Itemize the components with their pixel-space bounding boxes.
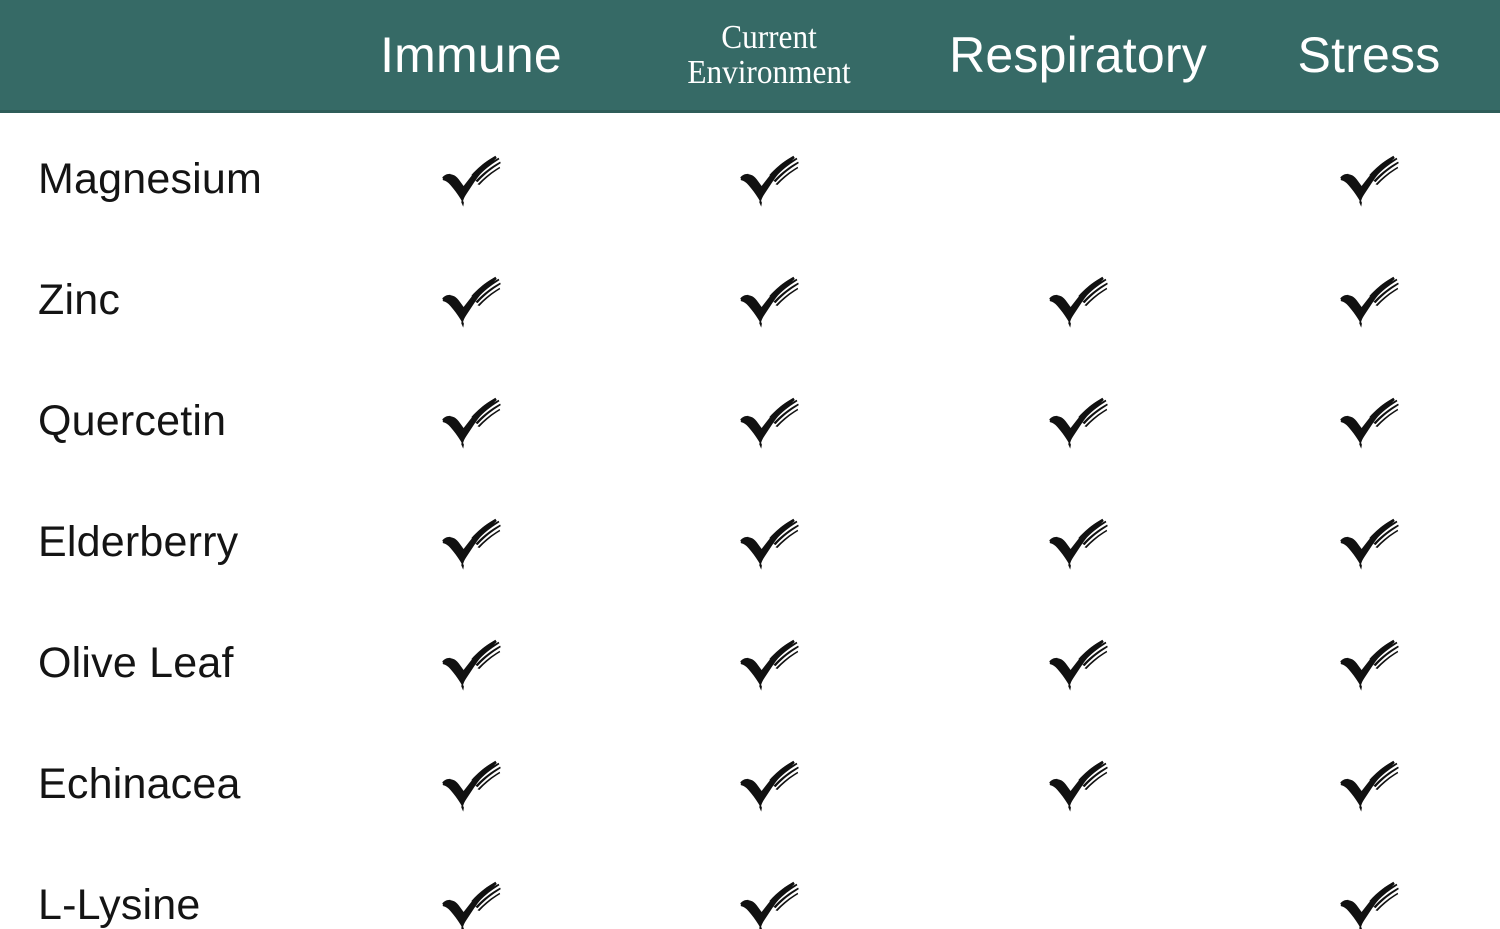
column-header-immune: Immune — [341, 0, 601, 110]
check-mark-icon — [738, 636, 800, 692]
check-mark-icon — [1047, 757, 1109, 813]
check-mark-icon — [1338, 878, 1400, 929]
check-mark-icon — [738, 757, 800, 813]
table-row: L-Lysine — [0, 845, 1500, 929]
row-label-l-lysine: L-Lysine — [38, 845, 201, 929]
row-label-elderberry: Elderberry — [38, 482, 238, 603]
column-header-respiratory: Respiratory — [938, 0, 1218, 110]
column-header-stress: Stress — [1259, 0, 1479, 110]
table-row: Elderberry — [0, 482, 1500, 603]
cell-elderberry-immune — [341, 482, 601, 603]
check-mark-icon — [1338, 394, 1400, 450]
cell-echinacea-current-environment — [649, 724, 889, 845]
row-label-zinc: Zinc — [38, 240, 120, 361]
row-label-quercetin: Quercetin — [38, 361, 226, 482]
cell-quercetin-current-environment — [649, 361, 889, 482]
table-header-band: Immune Current Environment Respiratory S… — [0, 0, 1500, 113]
cell-zinc-current-environment — [649, 240, 889, 361]
cell-elderberry-stress — [1259, 482, 1479, 603]
check-mark-icon — [738, 394, 800, 450]
cell-quercetin-immune — [341, 361, 601, 482]
cell-l-lysine-immune — [341, 845, 601, 929]
check-mark-icon — [1338, 152, 1400, 208]
check-mark-icon — [440, 636, 502, 692]
table-body: MagnesiumZincQuercetinElderberryOlive Le… — [0, 113, 1500, 929]
cell-magnesium-immune — [341, 119, 601, 240]
check-mark-icon — [440, 878, 502, 929]
benefits-comparison-table: Immune Current Environment Respiratory S… — [0, 0, 1500, 929]
check-mark-icon — [1338, 273, 1400, 329]
cell-olive-leaf-respiratory — [938, 603, 1218, 724]
check-mark-icon — [1047, 394, 1109, 450]
cell-zinc-stress — [1259, 240, 1479, 361]
cell-elderberry-current-environment — [649, 482, 889, 603]
cell-l-lysine-current-environment — [649, 845, 889, 929]
check-mark-icon — [1338, 757, 1400, 813]
check-mark-icon — [738, 878, 800, 929]
check-mark-icon — [1338, 636, 1400, 692]
row-label-magnesium: Magnesium — [38, 119, 262, 240]
check-mark-icon — [1047, 636, 1109, 692]
check-mark-icon — [440, 757, 502, 813]
cell-magnesium-stress — [1259, 119, 1479, 240]
cell-olive-leaf-immune — [341, 603, 601, 724]
check-mark-icon — [738, 515, 800, 571]
cell-echinacea-stress — [1259, 724, 1479, 845]
cell-l-lysine-stress — [1259, 845, 1479, 929]
cell-echinacea-respiratory — [938, 724, 1218, 845]
cell-olive-leaf-stress — [1259, 603, 1479, 724]
cell-olive-leaf-current-environment — [649, 603, 889, 724]
cell-quercetin-stress — [1259, 361, 1479, 482]
cell-zinc-respiratory — [938, 240, 1218, 361]
check-mark-icon — [1338, 515, 1400, 571]
check-mark-icon — [440, 394, 502, 450]
check-mark-icon — [440, 515, 502, 571]
cell-echinacea-immune — [341, 724, 601, 845]
check-mark-icon — [1047, 273, 1109, 329]
check-mark-icon — [738, 273, 800, 329]
check-mark-icon — [738, 152, 800, 208]
row-label-olive-leaf: Olive Leaf — [38, 603, 234, 724]
column-header-current-environment: Current Environment — [659, 0, 880, 110]
cell-zinc-immune — [341, 240, 601, 361]
table-row: Echinacea — [0, 724, 1500, 845]
check-mark-icon — [440, 152, 502, 208]
cell-l-lysine-respiratory — [938, 845, 1218, 929]
table-row: Olive Leaf — [0, 603, 1500, 724]
cell-magnesium-respiratory — [938, 119, 1218, 240]
cell-elderberry-respiratory — [938, 482, 1218, 603]
cell-quercetin-respiratory — [938, 361, 1218, 482]
row-label-echinacea: Echinacea — [38, 724, 241, 845]
table-row: Magnesium — [0, 119, 1500, 240]
table-row: Quercetin — [0, 361, 1500, 482]
check-mark-icon — [1047, 515, 1109, 571]
cell-magnesium-current-environment — [649, 119, 889, 240]
table-row: Zinc — [0, 240, 1500, 361]
check-mark-icon — [440, 273, 502, 329]
